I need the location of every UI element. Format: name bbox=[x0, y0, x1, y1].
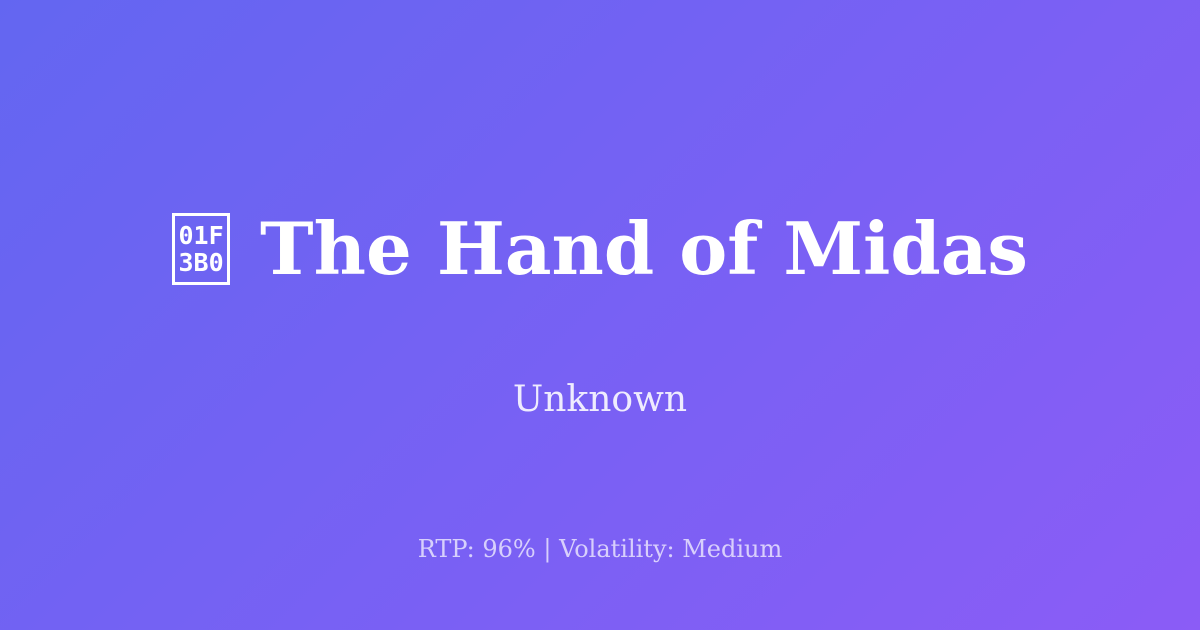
game-title: The Hand of Midas bbox=[260, 211, 1028, 287]
tofu-codepoint-high: 01F bbox=[178, 222, 223, 249]
title-row: 01F 3B0 The Hand of Midas bbox=[0, 163, 1200, 336]
game-og-card: 01F 3B0 The Hand of Midas Unknown RTP: 9… bbox=[0, 0, 1200, 630]
hero-block: 01F 3B0 The Hand of Midas Unknown bbox=[0, 163, 1200, 421]
tofu-codepoint-low: 3B0 bbox=[178, 249, 223, 276]
game-provider: Unknown bbox=[513, 378, 687, 421]
game-stats-line: RTP: 96% | Volatility: Medium bbox=[0, 535, 1200, 564]
slot-machine-icon: 01F 3B0 bbox=[172, 213, 230, 285]
